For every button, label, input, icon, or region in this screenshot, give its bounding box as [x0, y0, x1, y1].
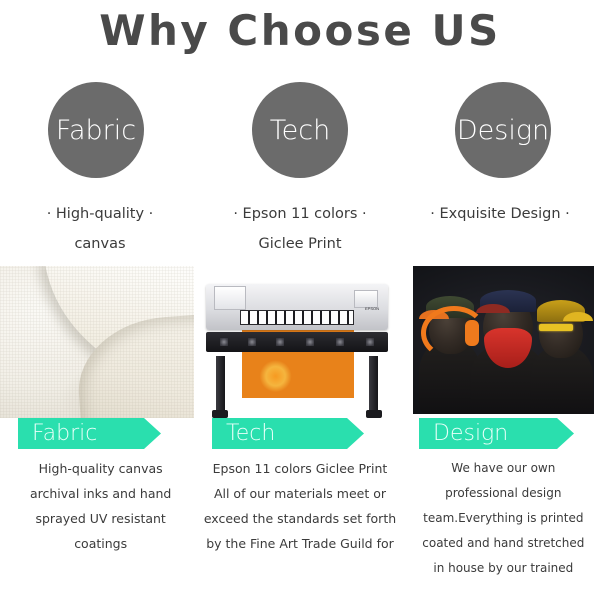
printer-leg	[216, 356, 225, 416]
description-line: exceed the standards set forth	[203, 506, 396, 531]
banner-label: Design	[419, 423, 508, 445]
printer-knob-icon	[276, 338, 284, 346]
feature-tagline-fabric: · High-quality · canvas	[47, 199, 154, 259]
photo-panels: EPSON	[0, 266, 600, 426]
printer-knob-icon	[248, 338, 256, 346]
banner-fabric: Fabric	[18, 418, 161, 449]
printer-chassis: EPSON	[206, 284, 388, 330]
description-design: We have our own professional design team…	[399, 456, 600, 581]
large-format-printer-photo: EPSON	[200, 266, 394, 418]
monkey-right-sunglasses	[539, 324, 573, 331]
printer-head-rail	[240, 310, 354, 325]
canvas-weave-texture	[0, 266, 194, 418]
description-fabric: High-quality canvas archival inks and ha…	[0, 456, 201, 581]
feature-circle-design: Design	[455, 82, 551, 178]
monkey-right-cap-brim	[563, 312, 593, 321]
description-columns: High-quality canvas archival inks and ha…	[0, 456, 600, 581]
printer-photo-base: EPSON	[200, 266, 394, 418]
description-line: professional design	[407, 481, 600, 506]
printer-knob-icon	[220, 338, 228, 346]
section-banners: Fabric Tech Design	[0, 418, 600, 452]
description-line: High-quality canvas	[4, 456, 197, 481]
description-line: We have our own	[407, 456, 600, 481]
tagline-line-2: Giclee Print	[233, 229, 366, 259]
printer-front-panel	[206, 332, 388, 352]
canvas-roll-photo	[0, 266, 194, 418]
printer-knob-icon	[336, 338, 344, 346]
tagline-line-1: · Exquisite Design ·	[430, 206, 569, 222]
three-monkeys-artwork-photo: BMC	[413, 266, 594, 414]
description-line: Epson 11 colors Giclee Print	[203, 456, 396, 481]
feature-tagline-tech: · Epson 11 colors · Giclee Print	[233, 199, 366, 259]
banner-label: Fabric	[18, 423, 97, 445]
printer-knob-icon	[366, 338, 374, 346]
feature-circle-label: Tech	[270, 117, 330, 144]
monkey-left-earcup	[465, 320, 479, 346]
feature-column-tech: Tech · Epson 11 colors · Giclee Print	[200, 82, 400, 259]
feature-circle-label: Fabric	[56, 117, 136, 144]
infographic-page: Why Choose US Fabric · High-quality · ca…	[0, 0, 600, 600]
feature-circle-label: Design	[457, 117, 549, 144]
feature-tagline-design: · Exquisite Design ·	[430, 199, 569, 229]
feature-column-design: Design · Exquisite Design ·	[400, 82, 600, 259]
tagline-line-1: · Epson 11 colors ·	[233, 206, 366, 222]
banner-design: Design	[419, 418, 574, 449]
description-line: coatings	[4, 531, 197, 556]
printer-leg	[369, 356, 378, 416]
printer-brand-mark: EPSON	[365, 306, 379, 311]
banner-label: Tech	[212, 423, 275, 445]
description-line: coated and hand stretched	[407, 531, 600, 556]
tagline-line-2: canvas	[47, 229, 154, 259]
description-line: All of our materials meet or	[203, 481, 396, 506]
printer-left-module	[214, 286, 246, 310]
banner-tech: Tech	[212, 418, 364, 449]
description-line: archival inks and hand	[4, 481, 197, 506]
description-line: by the Fine Art Trade Guild for	[203, 531, 396, 556]
feature-circle-tech: Tech	[252, 82, 348, 178]
description-tech: Epson 11 colors Giclee Print All of our …	[201, 456, 398, 581]
description-line: team.Everything is printed	[407, 506, 600, 531]
printer-foot	[212, 410, 228, 418]
monkeys-photo-base: BMC	[413, 266, 594, 414]
feature-circle-fabric: Fabric	[48, 82, 144, 178]
page-title: Why Choose US	[0, 6, 600, 55]
canvas-photo-base	[0, 266, 194, 418]
description-line: in house by our trained	[407, 556, 600, 581]
description-line: sprayed UV resistant	[4, 506, 197, 531]
feature-columns: Fabric · High-quality · canvas Tech · Ep…	[0, 82, 600, 259]
tagline-line-1: · High-quality ·	[47, 206, 154, 222]
printer-knob-icon	[306, 338, 314, 346]
printer-foot	[366, 410, 382, 418]
feature-column-fabric: Fabric · High-quality · canvas	[0, 82, 200, 259]
